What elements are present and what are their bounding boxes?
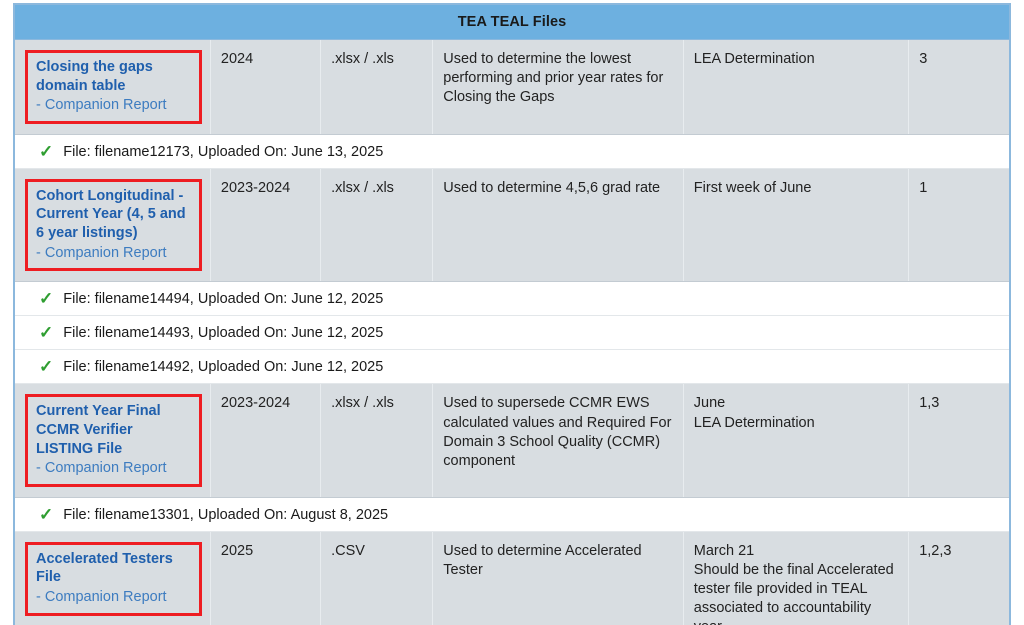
table-row: Accelerated Testers File- Companion Repo…: [14, 531, 1010, 625]
check-icon: ✓: [39, 143, 53, 160]
companion-report-link[interactable]: - Companion Report: [36, 244, 191, 263]
highlighted-file-entry[interactable]: Current Year Final CCMR Verifier LISTING…: [25, 394, 202, 486]
format-cell: .xlsx / .xls: [321, 384, 433, 497]
companion-report-link[interactable]: - Companion Report: [36, 588, 191, 607]
uploaded-file-label: File: filename13301, Uploaded On: August…: [63, 507, 388, 523]
file-title-link[interactable]: Accelerated Testers File: [36, 550, 191, 587]
highlighted-file-entry[interactable]: Closing the gaps domain table- Companion…: [25, 50, 202, 124]
highlighted-file-entry[interactable]: Cohort Longitudinal - Current Year (4, 5…: [25, 179, 202, 271]
file-name-cell: Accelerated Testers File- Companion Repo…: [14, 531, 210, 625]
uploaded-file-label: File: filename14494, Uploaded On: June 1…: [63, 291, 383, 307]
uploaded-file-label: File: filename14493, Uploaded On: June 1…: [63, 325, 383, 341]
uploaded-file-cell: ✓File: filename14492, Uploaded On: June …: [14, 350, 1010, 384]
uploaded-file-row: ✓File: filename13301, Uploaded On: Augus…: [14, 497, 1010, 531]
purpose-cell: Used to determine 4,5,6 grad rate: [433, 168, 683, 281]
timing-cell: March 21 Should be the final Accelerated…: [683, 531, 908, 625]
check-icon: ✓: [39, 290, 53, 307]
uploaded-file-row: ✓File: filename14493, Uploaded On: June …: [14, 316, 1010, 350]
table-header-row: TEA TEAL Files: [14, 4, 1010, 40]
tea-teal-files-table: TEA TEAL Files Closing the gaps domain t…: [13, 3, 1011, 625]
domain-cell: 3: [909, 40, 1010, 135]
file-name-cell: Closing the gaps domain table- Companion…: [14, 40, 210, 135]
table-row: Current Year Final CCMR Verifier LISTING…: [14, 384, 1010, 497]
check-icon: ✓: [39, 324, 53, 341]
uploaded-file-cell: ✓File: filename14494, Uploaded On: June …: [14, 282, 1010, 316]
purpose-cell: Used to determine Accelerated Tester: [433, 531, 683, 625]
year-cell: 2023-2024: [210, 168, 320, 281]
teal-files-page: TEA TEAL Files Closing the gaps domain t…: [0, 0, 1024, 625]
timing-cell: First week of June: [683, 168, 908, 281]
timing-cell: LEA Determination: [683, 40, 908, 135]
uploaded-file-cell: ✓File: filename12173, Uploaded On: June …: [14, 134, 1010, 168]
uploaded-file-cell: ✓File: filename13301, Uploaded On: Augus…: [14, 497, 1010, 531]
table-body: Closing the gaps domain table- Companion…: [14, 40, 1010, 625]
domain-cell: 1,3: [909, 384, 1010, 497]
file-name-cell: Current Year Final CCMR Verifier LISTING…: [14, 384, 210, 497]
check-icon: ✓: [39, 358, 53, 375]
companion-report-link[interactable]: - Companion Report: [36, 459, 191, 478]
uploaded-file-label: File: filename12173, Uploaded On: June 1…: [63, 144, 383, 160]
format-cell: .xlsx / .xls: [321, 168, 433, 281]
format-cell: .CSV: [321, 531, 433, 625]
companion-report-link[interactable]: - Companion Report: [36, 96, 191, 115]
uploaded-file-row: ✓File: filename14492, Uploaded On: June …: [14, 350, 1010, 384]
highlighted-file-entry[interactable]: Accelerated Testers File- Companion Repo…: [25, 542, 202, 616]
domain-cell: 1,2,3: [909, 531, 1010, 625]
file-title-link[interactable]: Current Year Final CCMR Verifier LISTING…: [36, 402, 191, 458]
file-name-cell: Cohort Longitudinal - Current Year (4, 5…: [14, 168, 210, 281]
purpose-cell: Used to supersede CCMR EWS calculated va…: [433, 384, 683, 497]
table-row: Closing the gaps domain table- Companion…: [14, 40, 1010, 135]
domain-cell: 1: [909, 168, 1010, 281]
file-title-link[interactable]: Closing the gaps domain table: [36, 58, 191, 95]
table-row: Cohort Longitudinal - Current Year (4, 5…: [14, 168, 1010, 281]
year-cell: 2025: [210, 531, 320, 625]
format-cell: .xlsx / .xls: [321, 40, 433, 135]
uploaded-file-row: ✓File: filename12173, Uploaded On: June …: [14, 134, 1010, 168]
check-icon: ✓: [39, 506, 53, 523]
year-cell: 2023-2024: [210, 384, 320, 497]
purpose-cell: Used to determine the lowest performing …: [433, 40, 683, 135]
file-title-link[interactable]: Cohort Longitudinal - Current Year (4, 5…: [36, 187, 191, 243]
uploaded-file-label: File: filename14492, Uploaded On: June 1…: [63, 359, 383, 375]
uploaded-file-cell: ✓File: filename14493, Uploaded On: June …: [14, 316, 1010, 350]
year-cell: 2024: [210, 40, 320, 135]
uploaded-file-row: ✓File: filename14494, Uploaded On: June …: [14, 282, 1010, 316]
timing-cell: June LEA Determination: [683, 384, 908, 497]
table-title: TEA TEAL Files: [14, 4, 1010, 40]
